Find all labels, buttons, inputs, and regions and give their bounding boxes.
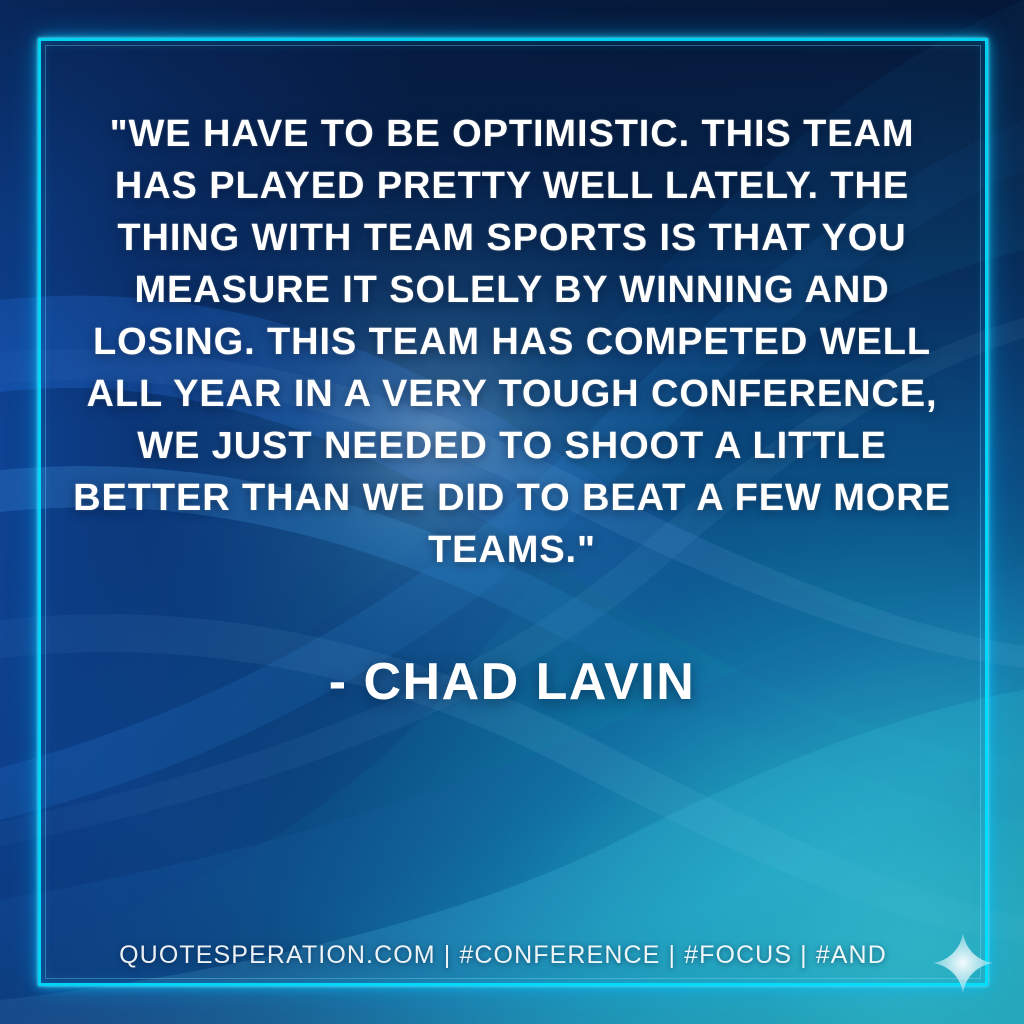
footer-text: QUOTESPERATION.COM | #CONFERENCE | #FOCU… bbox=[119, 941, 905, 969]
footer-credit: QUOTESPERATION.COM | #CONFERENCE | #FOCU… bbox=[0, 941, 1024, 970]
quote-line: "WE HAVE TO BE OPTIMISTIC. THIS TEAM bbox=[72, 108, 952, 160]
quote-line: HAS PLAYED PRETTY WELL LATELY. THE bbox=[72, 160, 952, 212]
sparkle-icon bbox=[932, 932, 994, 994]
quote-attribution: - CHAD LAVIN bbox=[72, 652, 952, 712]
quote-card: "WE HAVE TO BE OPTIMISTIC. THIS TEAM HAS… bbox=[0, 0, 1024, 1024]
quote-line: WE JUST NEEDED TO SHOOT A LITTLE bbox=[72, 420, 952, 472]
quote-line: ALL YEAR IN A VERY TOUGH CONFERENCE, bbox=[72, 368, 952, 420]
quote-line: LOSING. THIS TEAM HAS COMPETED WELL bbox=[72, 316, 952, 368]
quote-text: "WE HAVE TO BE OPTIMISTIC. THIS TEAM HAS… bbox=[72, 108, 952, 576]
quote-line: BETTER THAN WE DID TO BEAT A FEW MORE bbox=[72, 472, 952, 524]
quote-line: THING WITH TEAM SPORTS IS THAT YOU bbox=[72, 212, 952, 264]
quote-line: TEAMS." bbox=[72, 524, 952, 576]
quote-line: MEASURE IT SOLELY BY WINNING AND bbox=[72, 264, 952, 316]
